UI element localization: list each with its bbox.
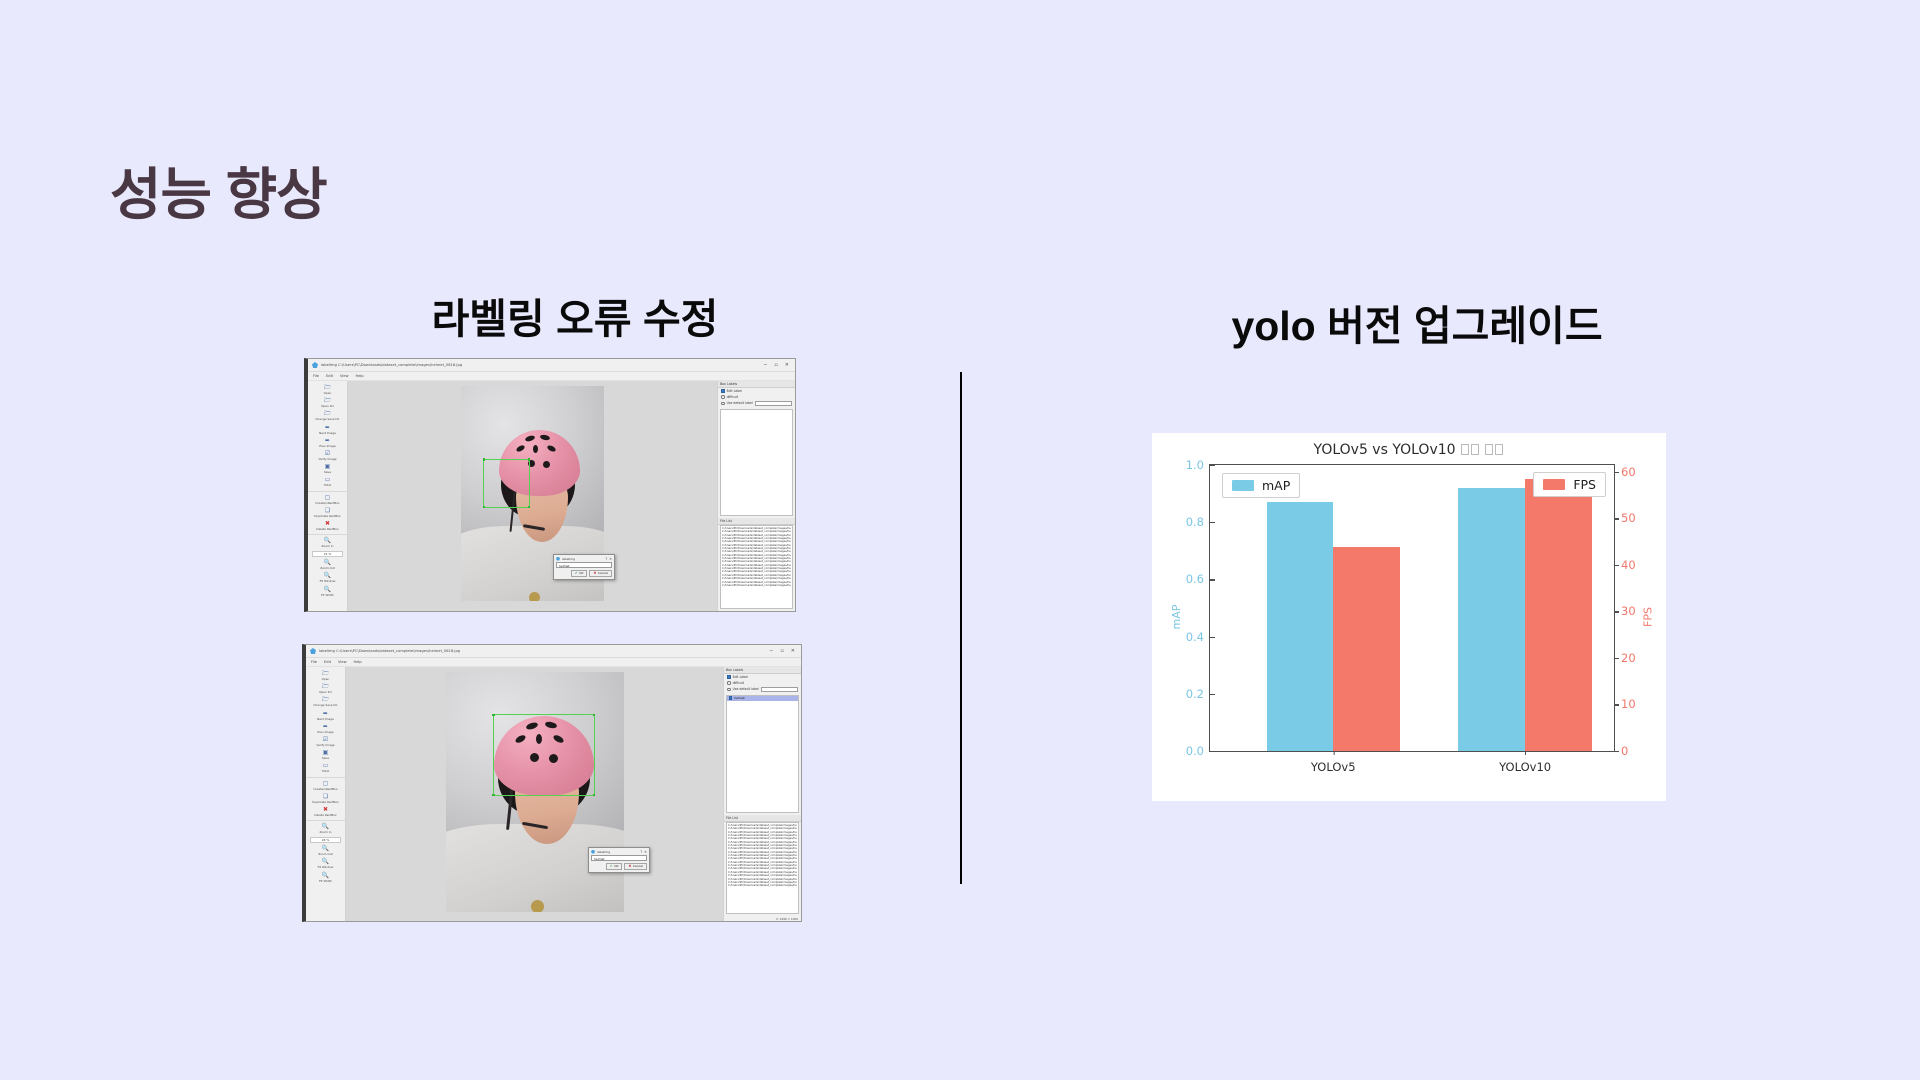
bbox-handle[interactable] bbox=[483, 506, 485, 508]
toolbar-zoom-out[interactable]: 🔍Zoom Out bbox=[306, 845, 345, 856]
difficult-checkbox[interactable] bbox=[721, 395, 725, 399]
toolbar-open-dir[interactable]: 🗁Open Dir bbox=[308, 397, 347, 408]
bbox-handle[interactable] bbox=[492, 714, 494, 716]
toolbar-open[interactable]: 🗁Open bbox=[308, 384, 347, 395]
chart-title: YOLOv5 vs YOLOv10 bbox=[1152, 442, 1666, 458]
ok-button[interactable]: ✔OK bbox=[571, 570, 588, 577]
help-icon[interactable]: ? bbox=[605, 557, 607, 561]
zoom-level-value[interactable]: 24 % bbox=[310, 837, 341, 843]
helmet-vent bbox=[524, 434, 535, 442]
toolbar-verify-image[interactable]: ☑Verify Image bbox=[308, 450, 347, 461]
delete-rectbox-icon: ✖ bbox=[323, 806, 328, 813]
file-list[interactable]: C:/Users/PC/Downloads/dataset_complete/i… bbox=[720, 525, 793, 609]
save-icon: ▣ bbox=[323, 749, 329, 756]
bar-fps-yolov5 bbox=[1333, 547, 1400, 751]
bounding-box-corrected[interactable] bbox=[493, 714, 595, 796]
y2-tick: 20 bbox=[1614, 651, 1636, 665]
difficult-text: difficult bbox=[727, 395, 739, 399]
missing-glyph-icon bbox=[1495, 444, 1503, 455]
close-icon[interactable]: ✕ bbox=[644, 850, 647, 854]
toolbar: 🗁Open 🗁Open Dir 🗁Change Save Dir ➨Next I… bbox=[306, 667, 346, 921]
x-tick: YOLOv5 bbox=[1311, 751, 1356, 774]
dialog-title: labelImg bbox=[562, 557, 603, 561]
legend-fps: FPS bbox=[1533, 472, 1606, 497]
list-item[interactable]: C:/Users/PC/Downloads/dataset_complete/i… bbox=[728, 884, 797, 887]
delete-rectbox-icon: ✖ bbox=[325, 520, 330, 527]
toolbar-change-save-dir[interactable]: 🗁Change Save Dir bbox=[306, 696, 345, 707]
menu-view[interactable]: View bbox=[340, 374, 349, 378]
menu-help[interactable]: Help bbox=[356, 374, 364, 378]
bar-map-yolov5 bbox=[1267, 502, 1334, 751]
y-tick: 0.8 bbox=[1186, 515, 1210, 529]
app-logo-icon bbox=[312, 362, 318, 368]
toolbar-change-save-dir[interactable]: 🗁Change Save Dir bbox=[308, 410, 347, 421]
legend-map: mAP bbox=[1222, 473, 1300, 498]
titlebar: labelImg C:\Users\PC\Downloads\dataset_c… bbox=[308, 359, 795, 372]
fit-width-icon: 🔍 bbox=[322, 872, 329, 879]
toolbar-format[interactable]: ▭YOLO bbox=[306, 762, 345, 773]
legend-swatch-fps bbox=[1543, 479, 1565, 490]
change-save-dir-icon: 🗁 bbox=[322, 696, 329, 703]
y2-axis-label: FPS bbox=[1642, 607, 1655, 627]
bar-fps-yolov10 bbox=[1525, 479, 1592, 751]
check-icon: ✔ bbox=[575, 571, 578, 575]
left-section-heading: 라벨링 오류 수정 bbox=[410, 285, 740, 345]
bar-map-yolov10 bbox=[1458, 488, 1525, 751]
use-default-label-checkbox[interactable] bbox=[721, 402, 725, 406]
use-default-label-text: Use default label bbox=[727, 401, 753, 405]
window-body: 🗁Open 🗁Open Dir 🗁Change Save Dir ➨Next I… bbox=[306, 667, 801, 921]
fit-window-icon: 🔍 bbox=[322, 858, 329, 865]
toolbar-fit-window[interactable]: 🔍Fit Window bbox=[308, 572, 347, 583]
cancel-button[interactable]: ✖Cancel bbox=[624, 863, 647, 870]
toolbar: 🗁Open 🗁Open Dir 🗁Change Save Dir ➨Next I… bbox=[308, 381, 348, 611]
toolbar-fit-width[interactable]: 🔍Fit Width bbox=[308, 586, 347, 597]
y2-tick: 30 bbox=[1614, 604, 1636, 618]
y-tick: 0.0 bbox=[1186, 744, 1210, 758]
bbox-handle[interactable] bbox=[528, 458, 530, 460]
toolbar-save[interactable]: ▣Save bbox=[308, 463, 347, 474]
toolbar-format[interactable]: ▭YOLO bbox=[308, 476, 347, 487]
window-controls: − ▫ ✕ bbox=[763, 363, 791, 368]
y2-tick: 40 bbox=[1614, 558, 1636, 572]
app-logo-icon bbox=[556, 557, 560, 561]
edit-label-checkbox[interactable] bbox=[721, 389, 725, 393]
close-icon[interactable]: ✕ bbox=[785, 363, 789, 368]
toolbar-zoom-out[interactable]: 🔍Zoom Out bbox=[308, 559, 347, 570]
open-dir-icon: 🗁 bbox=[324, 397, 331, 404]
y-tick: 0.4 bbox=[1186, 630, 1210, 644]
check-icon: ✔ bbox=[610, 864, 613, 868]
menu-help[interactable]: Help bbox=[354, 660, 362, 664]
menu-edit[interactable]: Edit bbox=[324, 660, 331, 664]
bbox-handle[interactable] bbox=[593, 794, 595, 796]
dialog-titlebar: labelImg ? ✕ bbox=[554, 555, 614, 562]
labelimg-window-after: labelImg C:\Users\PC\Downloads\dataset_c… bbox=[302, 644, 802, 922]
missing-glyph-icon bbox=[1471, 444, 1479, 455]
right-dock: Box Labels Edit Label difficult Use defa… bbox=[723, 667, 801, 921]
chart-title-text: YOLOv5 vs YOLOv10 bbox=[1314, 442, 1456, 458]
hoodie-badge bbox=[529, 592, 540, 601]
use-default-label-row[interactable]: Use default label bbox=[724, 686, 801, 693]
close-icon[interactable]: ✕ bbox=[609, 557, 612, 561]
open-icon: 🗁 bbox=[322, 670, 329, 677]
helmet-vent bbox=[546, 444, 556, 453]
fit-window-icon: 🔍 bbox=[324, 572, 331, 579]
titlebar: labelImg C:\Users\PC\Downloads\dataset_c… bbox=[306, 645, 801, 658]
missing-glyph-icon bbox=[1485, 444, 1493, 455]
create-rectbox-icon: ▢ bbox=[325, 494, 331, 501]
y-tick: 1.0 bbox=[1186, 458, 1210, 472]
y2-tick: 10 bbox=[1614, 697, 1636, 711]
verify-image-icon: ☑ bbox=[325, 450, 330, 457]
duplicate-rectbox-icon: ❏ bbox=[325, 507, 330, 514]
cross-icon: ✖ bbox=[593, 571, 596, 575]
label-list-item-selected[interactable]: helmet bbox=[727, 696, 798, 701]
x-tick: YOLOv10 bbox=[1499, 751, 1551, 774]
label-dialog[interactable]: labelImg ? ✕ helmet ✔OK ✖Cancel bbox=[588, 847, 650, 873]
dialog-buttons: ✔OK ✖Cancel bbox=[589, 861, 649, 872]
toolbar-duplicate-rectbox[interactable]: ❏Duplicate RectBox bbox=[306, 793, 345, 804]
hoodie-badge bbox=[531, 900, 544, 912]
toolbar-next-image[interactable]: ➨Next Image bbox=[306, 710, 345, 721]
dialog-buttons: ✔OK ✖Cancel bbox=[554, 568, 614, 579]
toolbar-zoom-in[interactable]: 🔍Zoom In bbox=[308, 534, 347, 548]
window-body: 🗁Open 🗁Open Dir 🗁Change Save Dir ➨Next I… bbox=[308, 381, 795, 611]
window-title: labelImg C:\Users\PC\Downloads\dataset_c… bbox=[321, 363, 763, 367]
menu-view[interactable]: View bbox=[338, 660, 347, 664]
default-label-input[interactable] bbox=[755, 401, 792, 406]
toolbar-fit-width[interactable]: 🔍Fit Width bbox=[306, 872, 345, 883]
bbox-handle[interactable] bbox=[483, 458, 485, 460]
missing-glyph-icon bbox=[1461, 444, 1469, 455]
label-list[interactable]: helmet bbox=[726, 695, 799, 813]
edit-label-text: Edit Label bbox=[727, 389, 742, 393]
zoom-out-icon: 🔍 bbox=[324, 559, 331, 566]
window-controls: − ▫ ✕ bbox=[769, 649, 797, 654]
bbox-handle[interactable] bbox=[528, 506, 530, 508]
file-list-header: File List bbox=[718, 518, 795, 525]
image-canvas[interactable]: labelImg ? ✕ helmet ✔OK ✖Cancel bbox=[348, 381, 717, 611]
annotated-photo bbox=[446, 672, 624, 912]
y-tick: 0.6 bbox=[1186, 572, 1210, 586]
default-label-input[interactable] bbox=[761, 687, 798, 692]
toolbar-duplicate-rectbox[interactable]: ❏Duplicate RectBox bbox=[308, 507, 347, 518]
label-list[interactable] bbox=[720, 409, 793, 516]
y-axis-label: mAP bbox=[1170, 605, 1183, 630]
format-icon: ▭ bbox=[325, 476, 331, 483]
list-item[interactable]: C:/Users/PC/Downloads/dataset_complete/i… bbox=[722, 577, 791, 580]
labelimg-window-before: labelImg C:\Users\PC\Downloads\dataset_c… bbox=[304, 358, 796, 612]
open-icon: 🗁 bbox=[324, 384, 331, 391]
menubar: File Edit View Help bbox=[306, 658, 801, 667]
plot-area: 0.0 0.2 0.4 0.6 0.8 1.0 0 10 20 30 40 50… bbox=[1209, 464, 1615, 752]
bbox-handle[interactable] bbox=[492, 794, 494, 796]
fit-width-icon: 🔍 bbox=[324, 586, 331, 593]
y2-tick: 0 bbox=[1614, 744, 1628, 758]
next-image-icon: ➨ bbox=[325, 424, 330, 431]
verify-image-icon: ☑ bbox=[323, 736, 328, 743]
zoom-level-value[interactable]: 21 % bbox=[312, 551, 343, 557]
legend-label-map: mAP bbox=[1262, 478, 1290, 493]
use-default-label-text: Use default label bbox=[733, 687, 759, 691]
toolbar-verify-image[interactable]: ☑Verify Image bbox=[306, 736, 345, 747]
box-labels-header: Box Labels bbox=[724, 667, 801, 674]
helmet-vent bbox=[540, 434, 551, 441]
section-divider bbox=[960, 372, 962, 884]
change-save-dir-icon: 🗁 bbox=[324, 410, 331, 417]
duplicate-rectbox-icon: ❏ bbox=[323, 793, 328, 800]
toolbar-create-rectbox[interactable]: ▢Create\nRectBox bbox=[306, 777, 345, 791]
help-icon[interactable]: ? bbox=[640, 850, 642, 854]
toolbar-save[interactable]: ▣Save bbox=[306, 749, 345, 760]
save-icon: ▣ bbox=[325, 463, 331, 470]
toolbar-prev-image[interactable]: ➨Prev Image bbox=[308, 437, 347, 448]
maximize-icon[interactable]: ▫ bbox=[774, 363, 777, 368]
use-default-label-row[interactable]: Use default label bbox=[718, 400, 795, 407]
helmet-vent bbox=[515, 444, 525, 453]
right-section-heading: yolo 버전 업그레이드 bbox=[1215, 292, 1619, 352]
bounding-box-misplaced[interactable] bbox=[483, 459, 530, 508]
open-dir-icon: 🗁 bbox=[322, 683, 329, 690]
difficult-text: difficult bbox=[733, 681, 745, 685]
legend-swatch-map bbox=[1232, 480, 1254, 491]
toolbar-zoom-in[interactable]: 🔍Zoom In bbox=[306, 820, 345, 834]
toolbar-delete-rectbox[interactable]: ✖Delete RectBox bbox=[308, 520, 347, 531]
toolbar-open-dir[interactable]: 🗁Open Dir bbox=[306, 683, 345, 694]
create-rectbox-icon: ▢ bbox=[323, 780, 329, 787]
chart-card: YOLOv5 vs YOLOv10 mAP FPS 0.0 0.2 0.4 0.… bbox=[1152, 433, 1666, 801]
prev-image-icon: ➨ bbox=[325, 437, 330, 444]
toolbar-fit-window[interactable]: 🔍Fit Window bbox=[306, 858, 345, 869]
toolbar-prev-image[interactable]: ➨Prev Image bbox=[306, 723, 345, 734]
edit-label-text: Edit Label bbox=[733, 675, 748, 679]
menu-file[interactable]: File bbox=[311, 660, 317, 664]
y2-tick: 50 bbox=[1614, 511, 1636, 525]
toolbar-create-rectbox[interactable]: ▢Create\nRectBox bbox=[308, 491, 347, 505]
edit-label-checkbox[interactable] bbox=[727, 675, 731, 679]
bbox-handle[interactable] bbox=[593, 714, 595, 716]
zoom-in-icon: 🔍 bbox=[324, 537, 331, 544]
app-logo-icon bbox=[591, 850, 595, 854]
close-icon[interactable]: ✕ bbox=[791, 649, 795, 654]
minimize-icon[interactable]: − bbox=[763, 363, 767, 368]
y2-tick: 60 bbox=[1614, 465, 1636, 479]
toolbar-open[interactable]: 🗁Open bbox=[306, 670, 345, 681]
toolbar-delete-rectbox[interactable]: ✖Delete RectBox bbox=[306, 806, 345, 817]
ok-button[interactable]: ✔OK bbox=[606, 863, 623, 870]
toolbar-next-image[interactable]: ➨Next Image bbox=[308, 424, 347, 435]
app-logo-icon bbox=[310, 648, 316, 654]
zoom-out-icon: 🔍 bbox=[322, 845, 329, 852]
status-bar: X: 1696 Y: 1006 bbox=[724, 916, 801, 921]
format-icon: ▭ bbox=[323, 762, 329, 769]
dialog-titlebar: labelImg ? ✕ bbox=[589, 848, 649, 855]
helmet-vent bbox=[543, 461, 550, 468]
slide-root: 성능 향상 라벨링 오류 수정 yolo 버전 업그레이드 labelImg C… bbox=[0, 0, 1920, 1080]
right-dock: Box Labels Edit Label difficult Use defa… bbox=[717, 381, 795, 611]
image-canvas[interactable]: labelImg ? ✕ helmet ✔OK ✖Cancel bbox=[346, 667, 723, 921]
dialog-title: labelImg bbox=[597, 850, 638, 854]
menu-file[interactable]: File bbox=[313, 374, 319, 378]
menu-edit[interactable]: Edit bbox=[326, 374, 333, 378]
cross-icon: ✖ bbox=[628, 864, 631, 868]
zoom-in-icon: 🔍 bbox=[322, 823, 329, 830]
menubar: File Edit View Help bbox=[308, 372, 795, 381]
cancel-button[interactable]: ✖Cancel bbox=[589, 570, 612, 577]
prev-image-icon: ➨ bbox=[323, 723, 328, 730]
file-list-header: File List bbox=[724, 815, 801, 822]
box-labels-header: Box Labels bbox=[718, 381, 795, 388]
label-dialog[interactable]: labelImg ? ✕ helmet ✔OK ✖Cancel bbox=[553, 554, 615, 580]
use-default-label-checkbox[interactable] bbox=[727, 688, 731, 692]
y-tick: 0.2 bbox=[1186, 687, 1210, 701]
list-item[interactable]: C:/Users/PC/Downloads/dataset_complete/i… bbox=[722, 584, 791, 587]
maximize-icon[interactable]: ▫ bbox=[780, 649, 783, 654]
window-title: labelImg C:\Users\PC\Downloads\dataset_c… bbox=[319, 649, 769, 653]
label-item-checkbox[interactable] bbox=[729, 696, 733, 700]
file-list[interactable]: C:/Users/PC/Downloads/dataset_complete/i… bbox=[726, 822, 799, 914]
list-item[interactable]: C:/Users/PC/Downloads/dataset_complete/i… bbox=[728, 874, 797, 877]
helmet-vent bbox=[533, 445, 538, 453]
minimize-icon[interactable]: − bbox=[769, 649, 773, 654]
label-item-text: helmet bbox=[734, 696, 745, 700]
page-title: 성능 향상 bbox=[110, 150, 327, 231]
difficult-checkbox[interactable] bbox=[727, 681, 731, 685]
legend-label-fps: FPS bbox=[1573, 477, 1596, 492]
next-image-icon: ➨ bbox=[323, 710, 328, 717]
